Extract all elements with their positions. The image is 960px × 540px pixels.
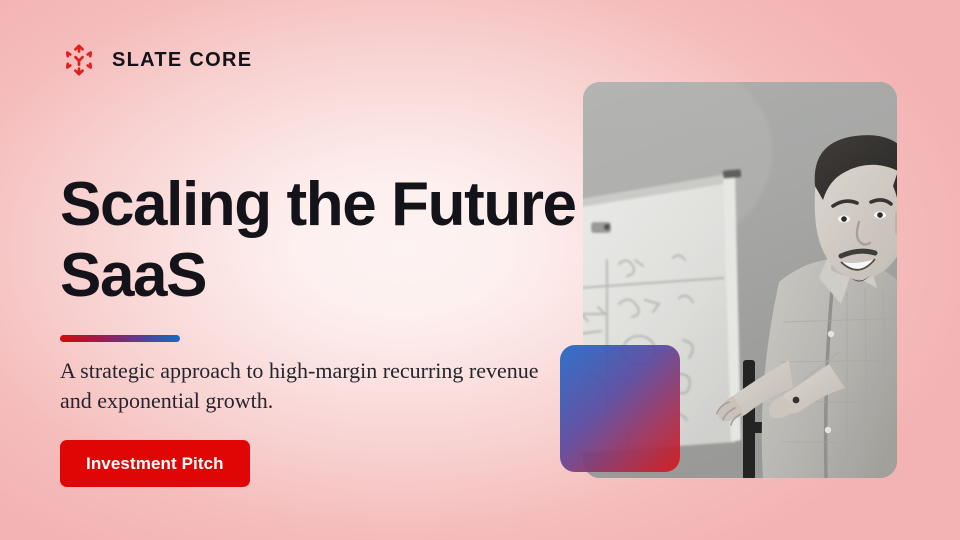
accent-divider-bar [60,335,180,342]
gradient-accent-tile [560,345,680,472]
brand-lockup[interactable]: SLATE CORE [60,40,252,80]
brand-name: SLATE CORE [112,50,252,70]
investment-pitch-button[interactable]: Investment Pitch [60,440,250,487]
slide-canvas: SLATE CORE Scaling the Future of SaaS A … [0,0,960,540]
hero-subtitle: A strategic approach to high-margin recu… [60,356,570,415]
hexagonal-target-y-logo-icon [60,41,98,79]
